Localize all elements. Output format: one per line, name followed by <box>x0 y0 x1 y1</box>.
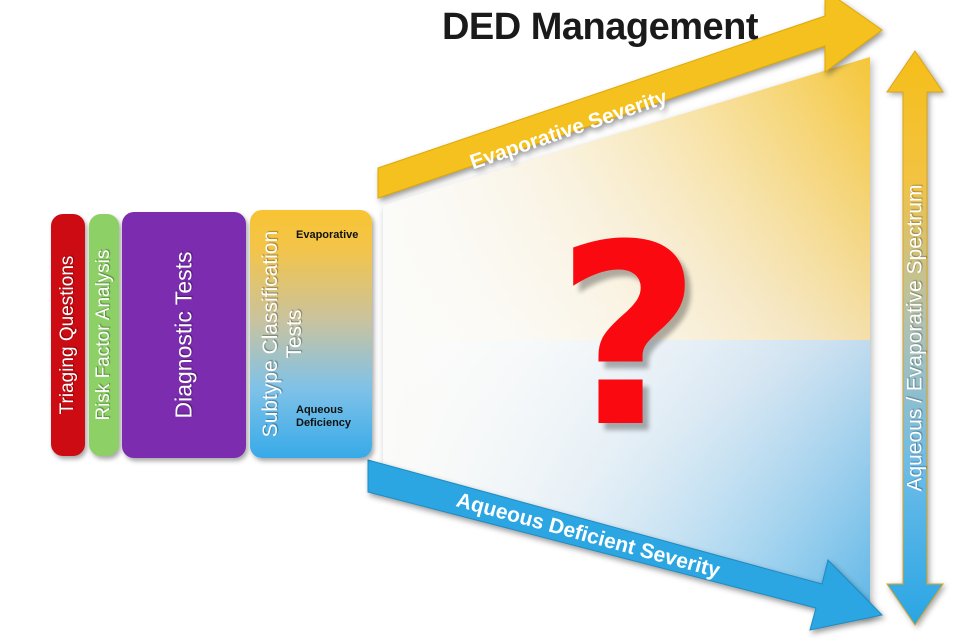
evaporative-severity-arrow: Evaporative Severity <box>370 0 890 215</box>
stage-box-label: Risk Factor Analysis <box>93 249 115 420</box>
stage-box-label: Diagnostic Tests <box>171 251 198 418</box>
subtype-scale-top-label: Evaporative <box>296 229 358 242</box>
stage-box-diagnostic-tests[interactable]: Diagnostic Tests <box>122 212 246 458</box>
aqueous-deficient-severity-arrow: Aqueous Deficient Severity <box>360 450 890 640</box>
aqueous-deficient-severity-label: Aqueous Deficient Severity <box>454 489 723 583</box>
stage-box-triaging-questions[interactable]: Triaging Questions <box>51 214 85 456</box>
subtype-scale-bottom-label-line2: Deficiency <box>296 417 351 430</box>
aqueous-evaporative-spectrum-arrow <box>884 48 946 628</box>
stage-box-risk-factor-analysis[interactable]: Risk Factor Analysis <box>89 214 119 456</box>
subtype-scale-bottom-label-line1: Aqueous <box>296 404 351 417</box>
question-mark-icon: ? <box>556 212 701 462</box>
subtype-scale-bottom-label: Aqueous Deficiency <box>296 404 351 430</box>
stage-box-label: Triaging Questions <box>57 256 79 415</box>
diagram-canvas: DED Management ? <box>0 0 960 640</box>
